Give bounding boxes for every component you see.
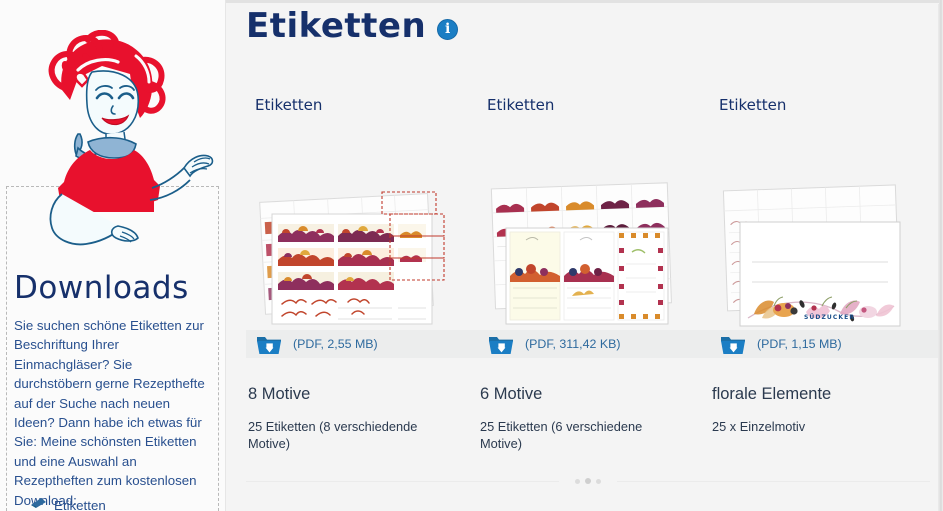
carousel-pagination[interactable] — [246, 478, 930, 484]
card-description: 25 Etiketten (6 verschiedene Motive) — [480, 418, 672, 452]
mascot-illustration — [18, 30, 218, 255]
download-button[interactable]: (PDF, 2,55 MB) — [246, 330, 478, 358]
card-thumbnail[interactable] — [478, 128, 710, 328]
download-card[interactable]: Etiketten — [710, 96, 942, 452]
card-label: Etiketten — [719, 96, 942, 122]
card-title: 8 Motive — [248, 385, 478, 404]
folder-download-icon — [720, 333, 747, 356]
page-title: Etiketten — [246, 6, 426, 46]
card-title: florale Elemente — [712, 385, 942, 404]
divider-left — [246, 481, 559, 482]
pagination-dot-active[interactable] — [585, 478, 591, 484]
folder-download-icon — [488, 333, 515, 356]
card-thumbnail[interactable] — [246, 128, 478, 328]
file-info-label: (PDF, 311,42 KB) — [525, 337, 621, 351]
page-root: Downloads Sie suchen schöne Etiketten zu… — [0, 0, 943, 511]
pagination-dots[interactable] — [559, 478, 617, 484]
card-description: 25 x Einzelmotiv — [712, 418, 904, 435]
page-title-row: Etiketten i — [246, 6, 458, 46]
info-icon[interactable]: i — [437, 19, 458, 40]
pagination-dot[interactable] — [575, 479, 580, 484]
card-thumbnail[interactable]: SÜDZUCKER — [710, 128, 942, 328]
card-label: Etiketten — [255, 96, 478, 122]
pagination-dot[interactable] — [596, 479, 601, 484]
download-button[interactable]: (PDF, 1,15 MB) — [710, 330, 942, 358]
download-card-list: Etiketten — [246, 96, 943, 452]
arrow-pointer-icon — [30, 496, 47, 511]
window-right-border — [939, 0, 943, 511]
download-card[interactable]: Etiketten — [478, 96, 710, 452]
card-label: Etiketten — [487, 96, 710, 122]
main-content: Etiketten i Etiketten — [226, 0, 943, 511]
sidebar-link-label: Etiketten — [54, 498, 106, 511]
sidebar-link-etiketten[interactable]: Etiketten — [30, 496, 106, 511]
sidebar-description: Sie suchen schöne Etiketten zur Beschrif… — [14, 316, 210, 510]
file-info-label: (PDF, 2,55 MB) — [293, 337, 378, 351]
sidebar-heading: Downloads — [14, 270, 189, 306]
download-card[interactable]: Etiketten — [246, 96, 478, 452]
card-title: 6 Motive — [480, 385, 710, 404]
file-info-label: (PDF, 1,15 MB) — [757, 337, 842, 351]
card-description: 25 Etiketten (8 verschiedende Motive) — [248, 418, 440, 452]
download-button[interactable]: (PDF, 311,42 KB) — [478, 330, 710, 358]
brand-wordmark: SÜDZUCKER — [804, 314, 855, 321]
folder-download-icon — [256, 333, 283, 356]
sidebar: Downloads Sie suchen schöne Etiketten zu… — [0, 0, 226, 511]
divider-right — [617, 481, 930, 482]
